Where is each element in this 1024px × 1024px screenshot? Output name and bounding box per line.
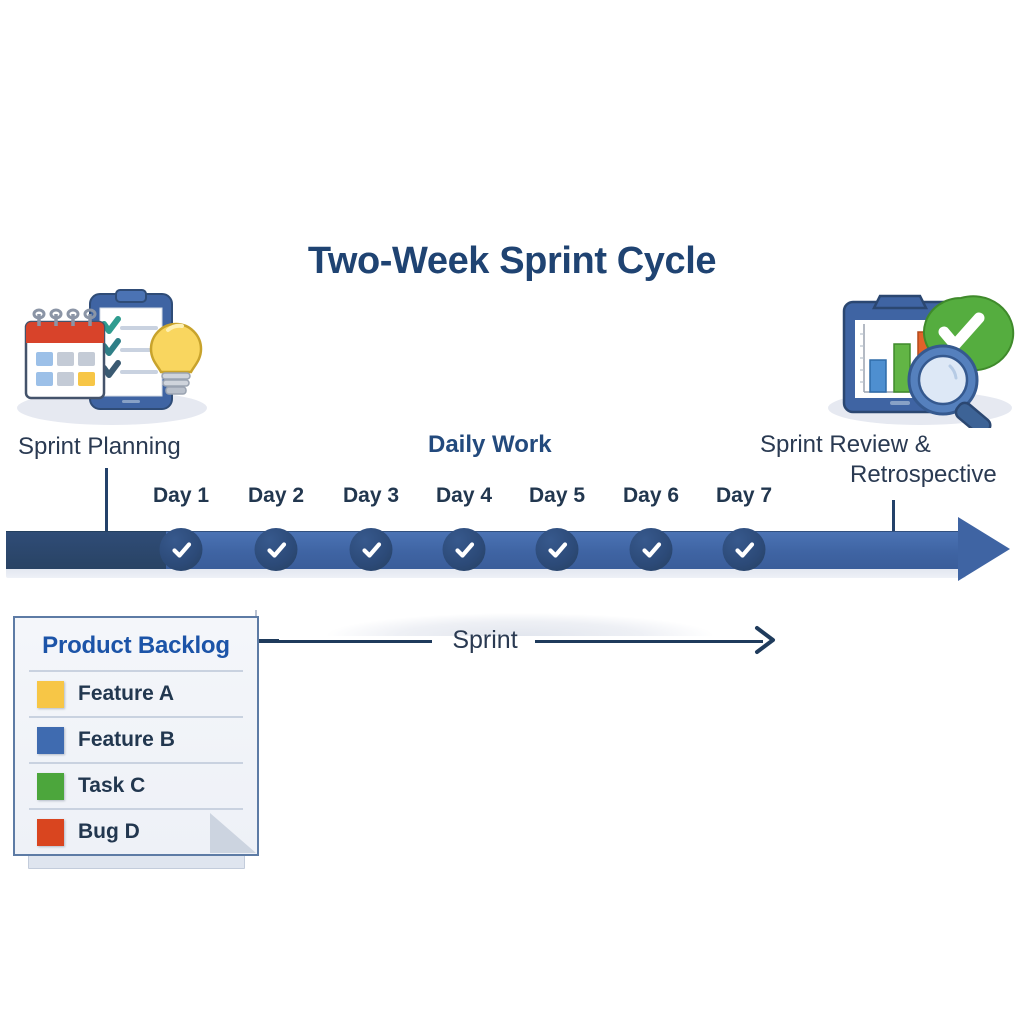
calendar-clipboard-lightbulb-icon <box>8 288 213 428</box>
day-label-7: Day 7 <box>716 484 772 508</box>
backlog-item[interactable]: Task C <box>29 762 243 808</box>
backlog-item-color-swatch <box>37 819 64 846</box>
day-marker-2[interactable] <box>255 528 298 571</box>
stage-label-daily-work: Daily Work <box>428 430 552 460</box>
connector-line-review <box>892 500 895 534</box>
backlog-connector-line <box>259 639 279 642</box>
chart-clipboard-check-magnifier-icon <box>822 288 1018 428</box>
day-label-6: Day 6 <box>623 484 679 508</box>
day-marker-7[interactable] <box>723 528 766 571</box>
day-marker-3[interactable] <box>350 528 393 571</box>
day-label-3: Day 3 <box>343 484 399 508</box>
backlog-item[interactable]: Feature B <box>29 716 243 762</box>
sprint-span-label: Sprint <box>435 626 535 655</box>
day-label-4: Day 4 <box>436 484 492 508</box>
day-label-5: Day 5 <box>529 484 585 508</box>
check-icon <box>452 538 476 562</box>
connector-line-planning <box>105 468 108 534</box>
page-curl-icon <box>210 813 256 853</box>
day-marker-6[interactable] <box>630 528 673 571</box>
day-label-2: Day 2 <box>248 484 304 508</box>
sprint-span-arrow-head-icon <box>753 624 779 661</box>
sprint-span-line-right <box>535 640 763 643</box>
backlog-item-color-swatch <box>37 727 64 754</box>
day-marker-5[interactable] <box>536 528 579 571</box>
timeline-arrow-head-icon <box>958 517 1010 581</box>
backlog-item-color-swatch <box>37 681 64 708</box>
backlog-item-color-swatch <box>37 773 64 800</box>
product-backlog-card[interactable]: Product Backlog Feature AFeature BTask C… <box>13 616 259 856</box>
sprint-span-line-left <box>257 640 432 643</box>
backlog-item-label: Task C <box>78 774 145 798</box>
stage-label-review-line2: Retrospective <box>760 460 997 490</box>
backlog-item-label: Feature A <box>78 682 174 706</box>
day-marker-1[interactable] <box>160 528 203 571</box>
stage-label-review-retrospective: Sprint Review & Retrospective <box>760 430 997 490</box>
check-icon <box>264 538 288 562</box>
stage-label-planning: Sprint Planning <box>18 432 181 462</box>
backlog-item-label: Feature B <box>78 728 175 752</box>
backlog-title: Product Backlog <box>15 632 257 660</box>
sprint-span-arrow: Sprint <box>255 600 785 670</box>
check-icon <box>732 538 756 562</box>
stage-label-review-line1: Sprint Review & <box>760 431 931 458</box>
backlog-item-label: Bug D <box>78 820 140 844</box>
diagram-canvas: Two-Week Sprint Cycle <box>0 0 1024 1024</box>
check-icon <box>639 538 663 562</box>
day-marker-4[interactable] <box>443 528 486 571</box>
check-icon <box>545 538 569 562</box>
timeline-bar-planning-segment <box>6 531 166 569</box>
backlog-item[interactable]: Feature A <box>29 670 243 716</box>
page-title: Two-Week Sprint Cycle <box>0 240 1024 283</box>
check-icon <box>359 538 383 562</box>
day-label-1: Day 1 <box>153 484 209 508</box>
check-icon <box>169 538 193 562</box>
